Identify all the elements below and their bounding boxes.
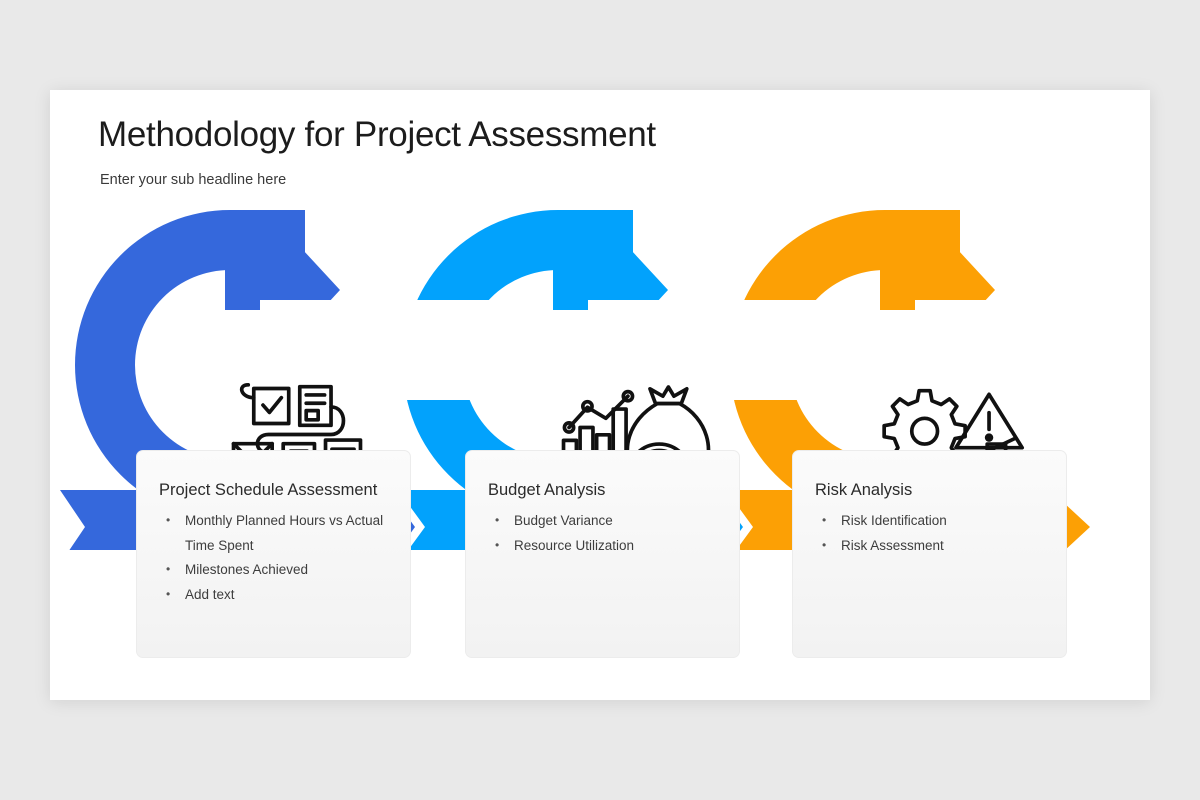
list-item: Monthly Planned Hours vs Actual Time Spe… (159, 509, 390, 558)
card-bullet-list: Risk Identification Risk Assessment (815, 509, 1046, 558)
card-title: Budget Analysis (488, 481, 719, 500)
page-title: Methodology for Project Assessment (98, 115, 656, 155)
list-item: Budget Variance (488, 509, 719, 534)
page-subtitle: Enter your sub headline here (100, 172, 286, 188)
list-item: Risk Assessment (815, 534, 1046, 559)
card-title: Risk Analysis (815, 481, 1046, 500)
card-bullet-list: Monthly Planned Hours vs Actual Time Spe… (159, 509, 390, 607)
slide-canvas: Methodology for Project Assessment Enter… (50, 90, 1150, 700)
card-title: Project Schedule Assessment (159, 481, 390, 500)
stage-card-budget-analysis[interactable]: Budget Analysis Budget Variance Resource… (465, 450, 740, 658)
stage-card-risk-analysis[interactable]: Risk Analysis Risk Identification Risk A… (792, 450, 1067, 658)
list-item: Add text (159, 583, 390, 608)
stage-2-hook-gap (588, 300, 848, 400)
list-item: Risk Identification (815, 509, 1046, 534)
stage-1-hook-gap (260, 300, 520, 400)
stage-3-hook-gap (915, 300, 1150, 400)
stage-card-project-schedule-assessment[interactable]: Project Schedule Assessment Monthly Plan… (136, 450, 411, 658)
card-bullet-list: Budget Variance Resource Utilization (488, 509, 719, 558)
list-item: Milestones Achieved (159, 558, 390, 583)
list-item: Resource Utilization (488, 534, 719, 559)
